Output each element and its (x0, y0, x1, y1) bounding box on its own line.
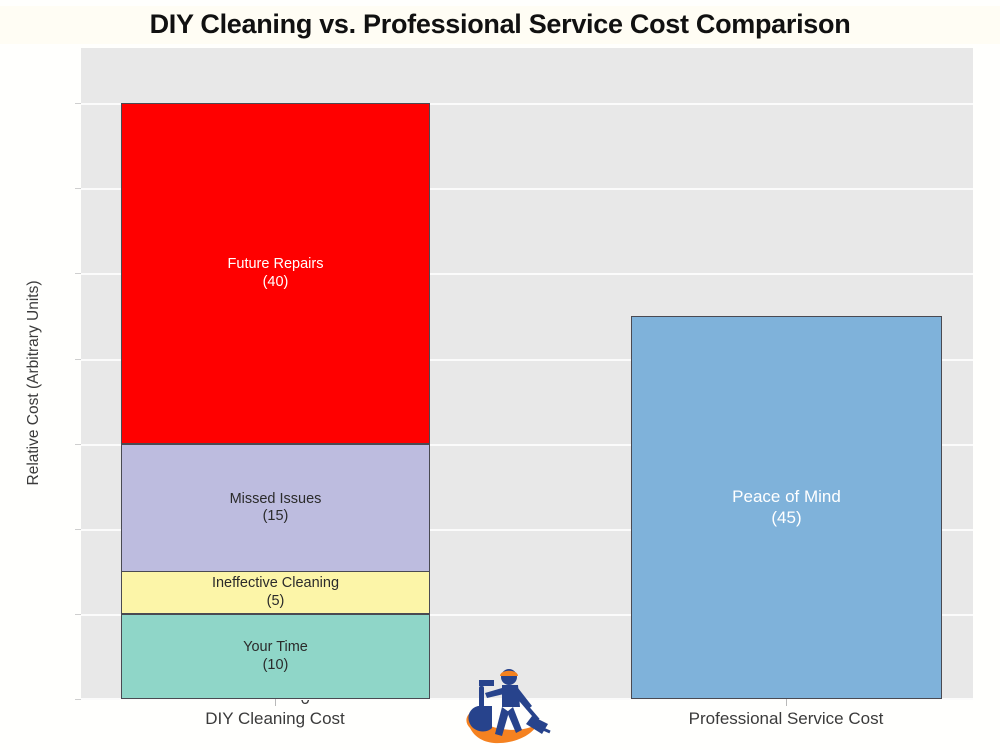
x-axis-label-professional: Professional Service Cost (616, 709, 956, 729)
bar-segment-your-time[interactable]: Your Time (10) (121, 614, 430, 699)
segment-label-ineffective-cleaning: Ineffective Cleaning (212, 575, 339, 592)
cleaning-service-logo (452, 662, 556, 750)
segment-value-future-repairs: (40) (263, 274, 289, 291)
page-title: DIY Cleaning vs. Professional Service Co… (0, 6, 1000, 44)
segment-value-peace-of-mind: (45) (771, 508, 801, 528)
chart-root: DIY Cleaning vs. Professional Service Co… (0, 0, 1000, 750)
segment-value-your-time: (10) (263, 657, 289, 674)
bar-segment-missed-issues[interactable]: Missed Issues (15) (121, 444, 430, 572)
segment-label-peace-of-mind: Peace of Mind (732, 487, 841, 507)
y-axis-title: Relative Cost (Arbitrary Units) (25, 103, 43, 663)
x-tick-mark-diy (275, 699, 276, 706)
segment-label-your-time: Your Time (243, 639, 308, 656)
x-tick-mark-pro (786, 699, 787, 706)
plot-area: Future Repairs (40) Missed Issues (15) I… (81, 48, 973, 699)
bar-segment-peace-of-mind[interactable]: Peace of Mind (45) (631, 316, 942, 699)
x-axis-label-diy: DIY Cleaning Cost (105, 709, 445, 729)
segment-value-missed-issues: (15) (263, 508, 289, 525)
bar-segment-ineffective-cleaning[interactable]: Ineffective Cleaning (5) (121, 571, 430, 614)
segment-value-ineffective-cleaning: (5) (267, 593, 285, 610)
segment-label-missed-issues: Missed Issues (230, 491, 322, 508)
bar-segment-future-repairs[interactable]: Future Repairs (40) (121, 103, 430, 444)
segment-label-future-repairs: Future Repairs (228, 256, 324, 273)
